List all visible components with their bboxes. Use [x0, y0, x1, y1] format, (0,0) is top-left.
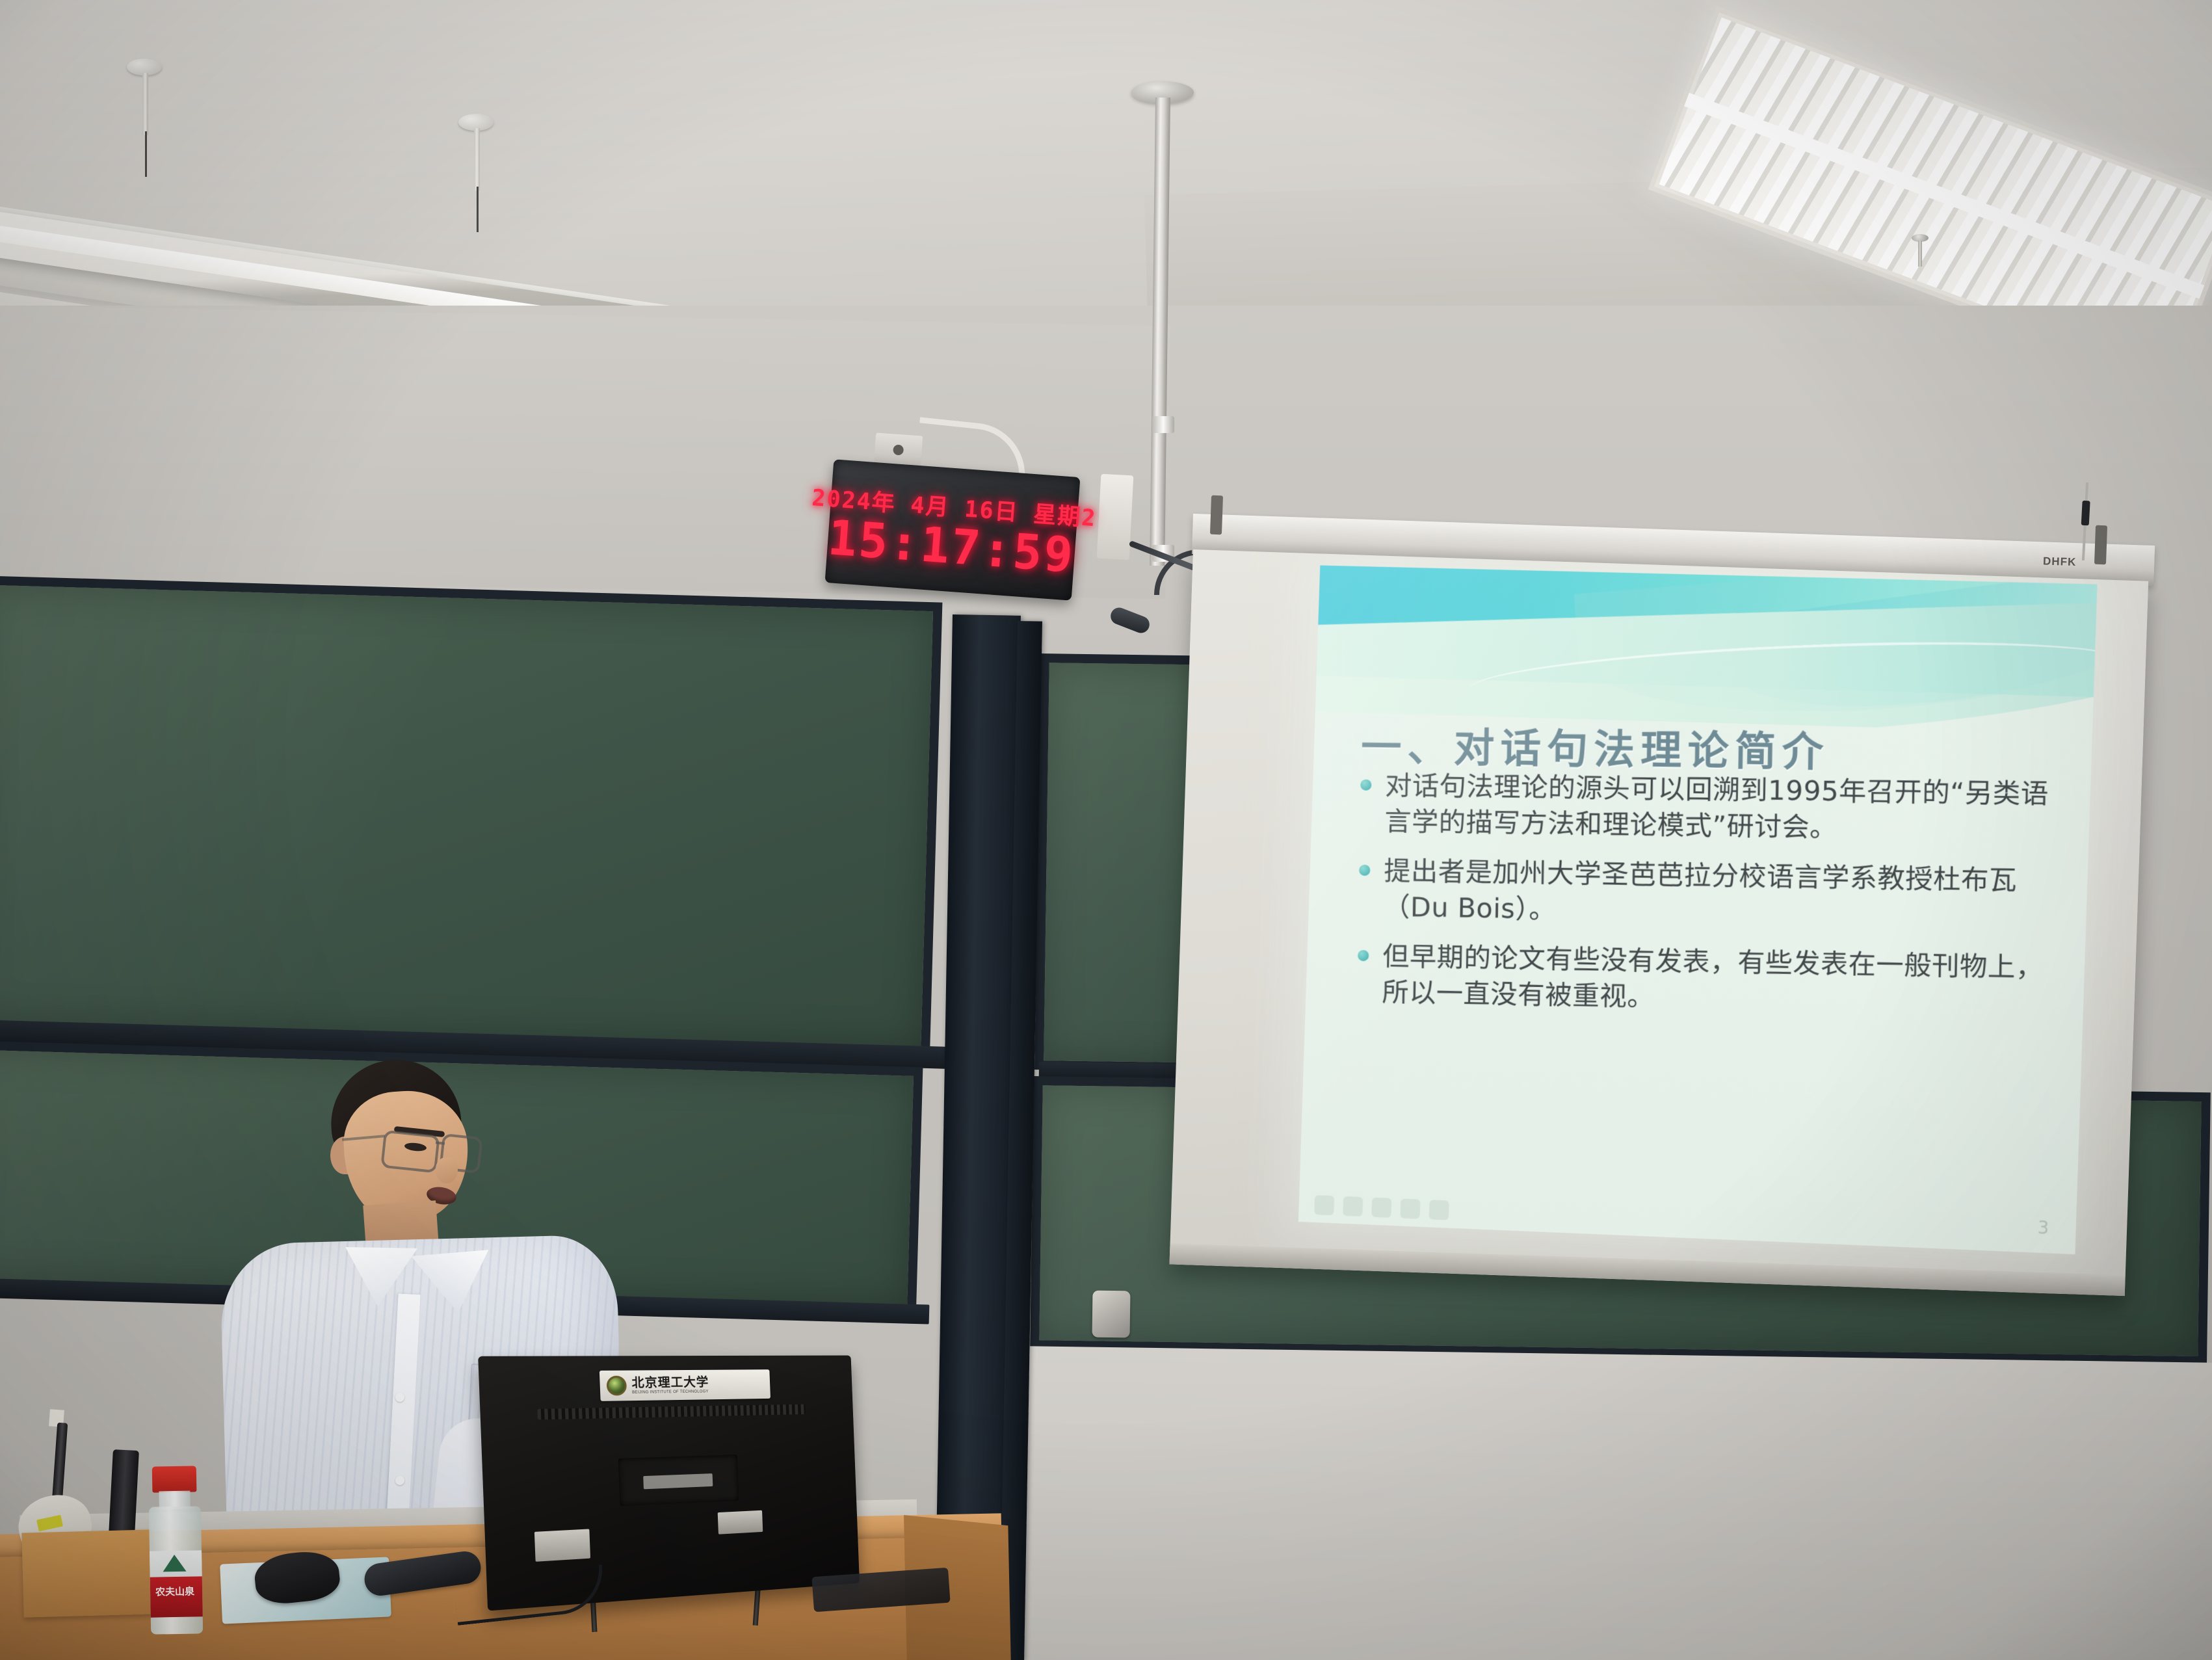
projection-screen: 一、对话句法理论简介 对话句法理论的源头可以回溯到1995年召开的“另类语言学的…: [1170, 549, 2149, 1296]
presenter-nose: [436, 1157, 458, 1183]
shirt-button: [395, 1476, 404, 1485]
university-emblem-icon: [606, 1376, 627, 1396]
glasses-icon: [380, 1130, 440, 1174]
bullet-dot-icon: [1358, 950, 1369, 961]
pen-holder-box: [21, 1529, 153, 1617]
water-bottle[interactable]: 农夫山泉: [147, 1466, 206, 1635]
chalkboard-left-upper: [0, 575, 942, 1057]
zoom-icon[interactable]: [1400, 1198, 1420, 1219]
list-item: 但早期的论文有些没有发表，有些发表在一般刊物上，所以一直没有被重视。: [1350, 938, 2055, 1022]
sprinkler-head-icon: [1912, 234, 1929, 269]
monitor-spec-label: [644, 1473, 713, 1489]
slideshow-control-tray[interactable]: [1314, 1195, 1449, 1220]
screen-bracket-right: [2094, 525, 2107, 565]
bottle-cap: [152, 1466, 197, 1492]
bullet-text: 但早期的论文有些没有发表，有些发表在一般刊物上，所以一直没有被重视。: [1382, 941, 2044, 1013]
university-name-en: BEIJING INSTITUTE OF TECHNOLOGY: [632, 1390, 709, 1395]
bullet-dot-icon: [1359, 865, 1370, 876]
monitor-sticker-right: [718, 1510, 763, 1535]
university-name-cn: 北京理工大学: [631, 1376, 709, 1389]
lecture-hall-photo: 2024年 4月 16日 星期2 15:17:59 DHFK 一、对话句法理论简…: [0, 0, 2212, 1660]
bullet-text: 提出者是加州大学圣芭芭拉分校语言学系教授杜布瓦（Du Bois）。: [1383, 855, 2017, 925]
presentation-slide: 一、对话句法理论简介 对话句法理论的源头可以回溯到1995年召开的“另类语言学的…: [1298, 565, 2098, 1254]
monitor-vesa-mount: [618, 1455, 739, 1506]
screen-brand-label: DHFK: [2043, 555, 2077, 569]
screen-bracket-left: [1210, 495, 1223, 535]
wall-outlet-plate: [1097, 474, 1134, 560]
next-slide-icon[interactable]: [1429, 1200, 1449, 1220]
bullet-dot-icon: [1360, 780, 1371, 791]
monitor-vent: [538, 1404, 806, 1419]
monitor-sticker-left: [534, 1529, 590, 1561]
wall-below-chalkboard: [1010, 1346, 2212, 1660]
shirt-button: [395, 1393, 404, 1402]
pole-collar-upper: [1152, 416, 1174, 433]
bottle-brand-text: 农夫山泉: [149, 1584, 201, 1598]
slide-bullet-list: 对话句法理论的源头可以回溯到1995年召开的“另类语言学的描写方法和理论模式”研…: [1350, 767, 2058, 1036]
pen-tool-icon[interactable]: [1343, 1196, 1363, 1217]
digital-wall-clock: 2024年 4月 16日 星期2 15:17:59: [825, 459, 1081, 600]
slide-header-graphic: [1315, 565, 2098, 733]
board-slide-handle[interactable]: [1092, 1291, 1131, 1338]
bullet-text: 对话句法理论的源头可以回溯到1995年召开的“另类语言学的描写方法和理论模式”研…: [1384, 770, 2049, 843]
menu-icon[interactable]: [1371, 1198, 1391, 1218]
prev-slide-icon[interactable]: [1314, 1195, 1334, 1215]
list-item: 对话句法理论的源头可以回溯到1995年召开的“另类语言学的描写方法和理论模式”研…: [1353, 767, 2057, 848]
university-logo-plate: 北京理工大学 BEIJING INSTITUTE OF TECHNOLOGY: [599, 1369, 770, 1401]
bottle-mountain-icon: [163, 1555, 186, 1572]
list-item: 提出者是加州大学圣芭芭拉分校语言学系教授杜布瓦（Du Bois）。: [1352, 853, 2056, 936]
slide-page-number: 3: [2037, 1219, 2049, 1239]
